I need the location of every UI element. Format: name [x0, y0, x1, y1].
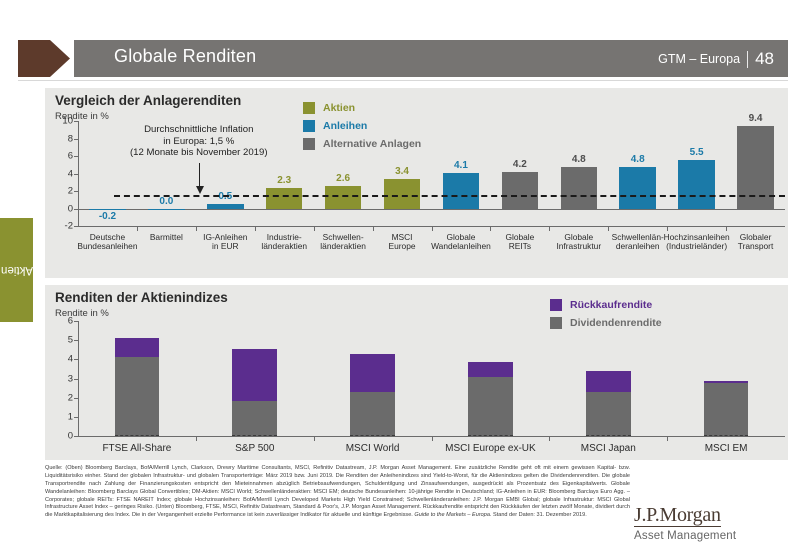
chart2-bar-baseline [232, 435, 277, 436]
chart2-x-label: MSCI EM [659, 443, 793, 454]
footnote: Quelle: (Oben) Bloomberg Barclays, BofA/… [45, 465, 630, 520]
chart2-y-axis [78, 321, 79, 436]
chart2-bar-dividendenrendite [350, 392, 395, 436]
chart1-x-label: GlobalerTransport [721, 233, 790, 252]
chart1-bar-value: 9.4 [721, 113, 791, 124]
slide-header: Globale Renditen GTM – Europa 48 [18, 40, 788, 77]
chart1-bar [207, 204, 244, 208]
chart2-bar-dividendenrendite [232, 401, 277, 436]
footnote-tail: Stand der Daten: 31. Dezember 2019. [491, 512, 586, 518]
chart2-y-tick-label: 3 [51, 373, 73, 384]
chart1-inflation-arrow [199, 163, 201, 187]
legend-swatch-alternative-anlagen [303, 138, 315, 150]
sidebar-item-label: Aktien [1, 264, 33, 276]
chart2-x-divider [314, 437, 315, 441]
chart1-x-divider [726, 227, 727, 231]
sidebar-item-aktien[interactable]: Aktien [0, 218, 33, 322]
legend-swatch-anleihen [303, 120, 315, 132]
jpmorgan-logo: J.P.Morgan Asset Management [634, 505, 784, 542]
page-title: Globale Renditen [114, 46, 256, 67]
chart1-x-divider [196, 227, 197, 231]
chart1-bar [384, 179, 421, 209]
chart1-y-tick-mark [74, 191, 78, 192]
chart1-y-tick-label: 6 [51, 151, 73, 162]
chart1-bar-value: -0.2 [72, 211, 142, 222]
chart1-y-tick-label: 2 [51, 186, 73, 197]
page-number: 48 [755, 49, 774, 69]
slide-page: Globale Renditen GTM – Europa 48 Aktien … [0, 0, 800, 554]
footnote-text: Quelle: (Oben) Bloomberg Barclays, BofA/… [45, 465, 630, 518]
chart1-y-tick-label: 10 [51, 116, 73, 127]
header-meta: GTM – Europa 48 [658, 49, 774, 69]
chart2-bar-dividendenrendite [704, 383, 749, 436]
chart2-bar-baseline [468, 435, 513, 436]
chart1-x-divider [137, 227, 138, 231]
chart2-x-divider [196, 437, 197, 441]
chart2-x-divider [432, 437, 433, 441]
chart1-legend-label: Aktien [323, 102, 355, 114]
chart2-legend-label: Rückkaufrendite [570, 299, 652, 311]
chart1-y-tick-mark [74, 139, 78, 140]
chart2-bar-dividendenrendite [586, 392, 631, 436]
logo-subtitle: Asset Management [634, 530, 784, 542]
chart2-y-tick-mark [74, 436, 78, 437]
chart1-bar [502, 172, 539, 209]
chart2-bar-rueckkaufrendite [115, 338, 160, 357]
chart1-legend-item: Aktien [303, 102, 421, 114]
chart1-x-divider [490, 227, 491, 231]
legend-swatch-aktien [303, 102, 315, 114]
chart1-x-divider [608, 227, 609, 231]
legend-swatch-dividendenrendite [550, 317, 562, 329]
header-bar: Globale Renditen GTM – Europa 48 [74, 40, 788, 77]
chart1-y-tick-mark [74, 156, 78, 157]
chart2-y-tick-mark [74, 340, 78, 341]
chart2-legend: RückkaufrenditeDividendenrendite [550, 299, 662, 335]
chart1-y-tick-label: 4 [51, 168, 73, 179]
chart2-x-label: FTSE All-Share [70, 443, 204, 454]
chart1-bar [443, 173, 480, 209]
chart1-y-tick-label: 8 [51, 133, 73, 144]
logo-wordmark: J.P.Morgan [634, 505, 721, 527]
chart1-bar [561, 167, 598, 209]
chart2-y-tick-label: 0 [51, 431, 73, 442]
header-series-label: GTM – Europa [658, 52, 740, 66]
chart1-y-tick-mark [74, 121, 78, 122]
chart2-bar-rueckkaufrendite [468, 362, 513, 376]
chart1-legend: AktienAnleihenAlternative Anlagen [303, 102, 421, 156]
chart2-y-tick-label: 1 [51, 411, 73, 422]
chart1-x-divider [549, 227, 550, 231]
chart2-bar-dividendenrendite [115, 357, 160, 436]
chart1-legend-label: Alternative Anlagen [323, 138, 421, 150]
chart1-bar [89, 209, 126, 211]
chart2-y-tick-mark [74, 398, 78, 399]
chart1-x-divider [255, 227, 256, 231]
chart1-x-divider [373, 227, 374, 231]
chart2-bar-baseline [586, 435, 631, 436]
chart1-inflation-note: Durchschnittliche Inflationin Europa: 1,… [99, 124, 299, 159]
chart2-y-tick-mark [74, 359, 78, 360]
chart1-y-tick-mark [74, 174, 78, 175]
chart2-bar-baseline [704, 435, 749, 436]
chart1-bar [266, 188, 303, 208]
header-divider [747, 51, 748, 68]
legend-swatch-rückkaufrendite [550, 299, 562, 311]
chart2-y-tick-mark [74, 417, 78, 418]
chart2-y-tick-mark [74, 379, 78, 380]
chart-panel-aktienindizes: Renditen der Aktienindizes Rendite in % … [45, 285, 788, 460]
chart1-y-axis [78, 121, 79, 226]
chart2-x-label: MSCI Japan [541, 443, 675, 454]
footnote-italic: Guide to the Markets – Europa. [414, 512, 491, 518]
chart2-y-tick-label: 2 [51, 392, 73, 403]
header-rule [18, 80, 788, 81]
chart1-bar [619, 167, 656, 209]
chart2-bar-dividendenrendite [468, 377, 513, 436]
chart1-x-divider [432, 227, 433, 231]
chart1-legend-item: Alternative Anlagen [303, 138, 421, 150]
chart2-bar-rueckkaufrendite [350, 354, 395, 392]
chart2-x-divider [667, 437, 668, 441]
chart1-y-tick-label: 0 [51, 203, 73, 214]
chart2-y-tick-label: 4 [51, 354, 73, 365]
chart1-y-tick-label: -2 [51, 221, 73, 232]
chart2-bar-baseline [350, 435, 395, 436]
chart1-plot: -20246810-0.2DeutscheBundesanleihen0.0Ba… [45, 88, 788, 278]
chart2-legend-item: Dividendenrendite [550, 317, 662, 329]
chart1-legend-label: Anleihen [323, 120, 367, 132]
chart2-plot: 0123456FTSE All-ShareS&P 500MSCI WorldMS… [45, 285, 788, 460]
chart1-bar [678, 160, 715, 208]
chart2-bar-rueckkaufrendite [232, 349, 277, 401]
chart1-y-tick-mark [74, 226, 78, 227]
chart2-bar-rueckkaufrendite [586, 371, 631, 392]
chart2-x-divider [549, 437, 550, 441]
chart2-legend-item: Rückkaufrendite [550, 299, 662, 311]
chart1-x-divider [314, 227, 315, 231]
chart2-bar-baseline [115, 435, 160, 436]
chart1-bar [148, 209, 185, 211]
chart1-inflation-line [114, 195, 785, 197]
chart1-y-tick-mark [74, 209, 78, 210]
chart1-x-divider [667, 227, 668, 231]
chart-panel-anlagerenditen: Vergleich der Anlagerenditen Rendite in … [45, 88, 788, 278]
chart2-x-label: MSCI World [306, 443, 440, 454]
chart2-y-tick-mark [74, 321, 78, 322]
chart1-legend-item: Anleihen [303, 120, 421, 132]
chart2-legend-label: Dividendenrendite [570, 317, 662, 329]
chart1-bar-value: 5.5 [662, 147, 732, 158]
chart2-x-label: S&P 500 [188, 443, 322, 454]
chart2-x-label: MSCI Europe ex-UK [424, 443, 558, 454]
header-chevron-icon [18, 40, 70, 77]
chart2-bar-rueckkaufrendite [704, 381, 749, 383]
chart2-y-tick-label: 5 [51, 335, 73, 346]
chart2-y-tick-label: 6 [51, 316, 73, 327]
